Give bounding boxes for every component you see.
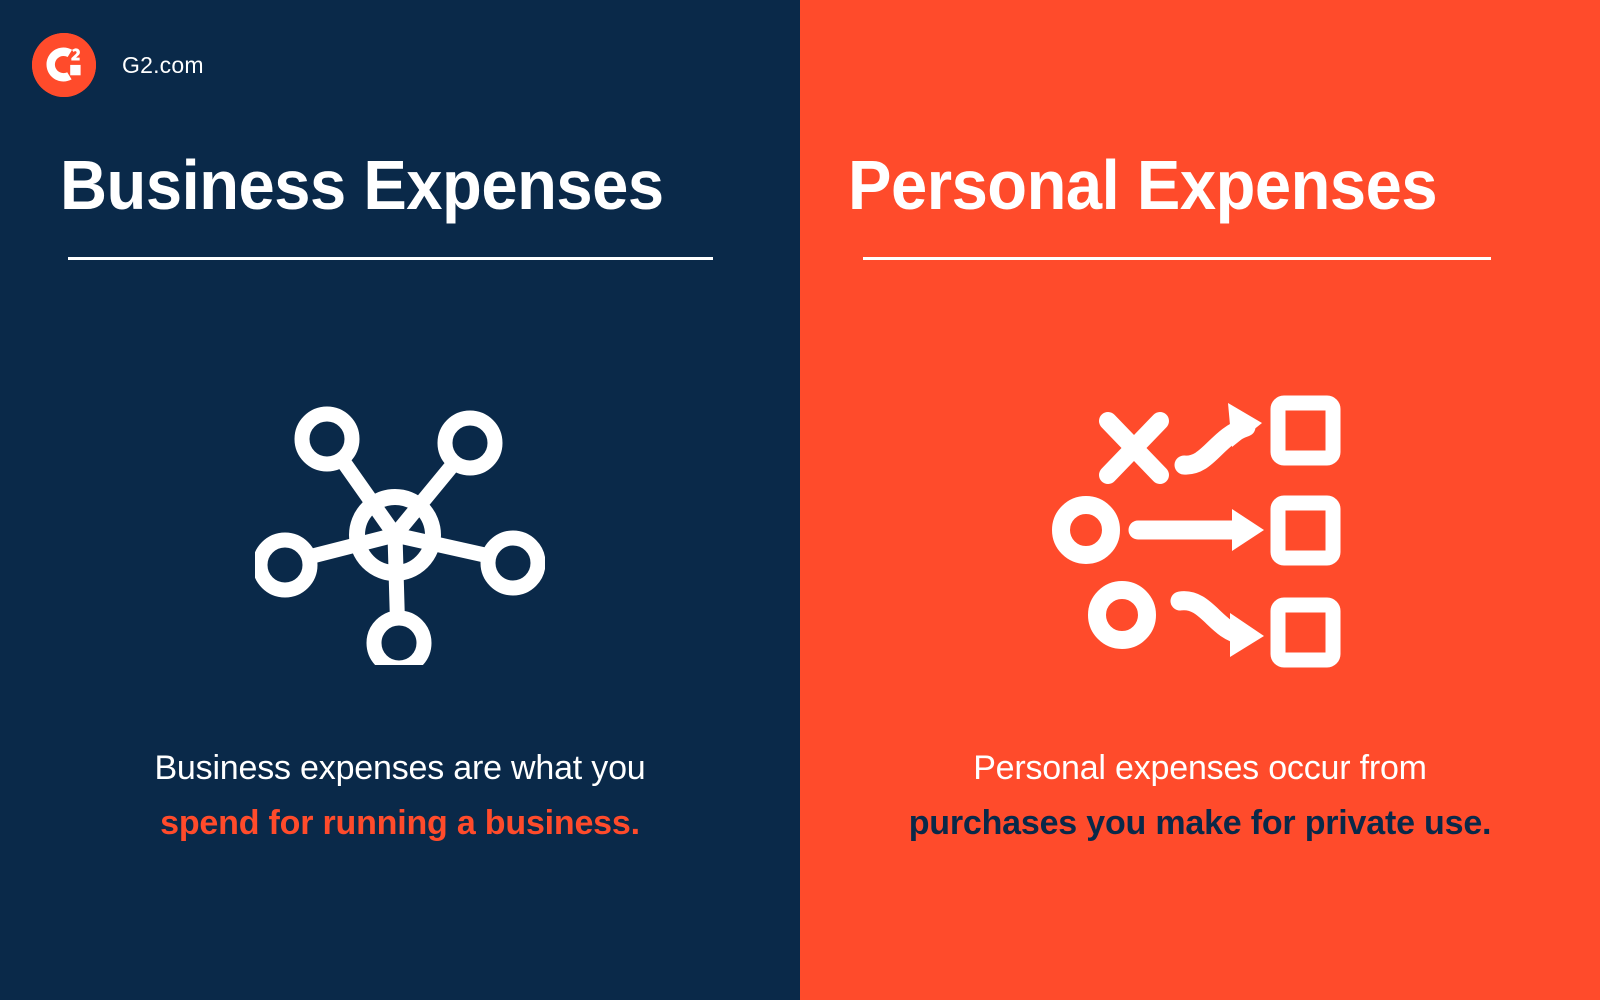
network-hub-icon	[0, 380, 800, 680]
title-underline-business	[68, 257, 713, 260]
caption-line-2: purchases you make for private use.	[800, 803, 1600, 844]
brand-name: G2.com	[122, 52, 204, 79]
title-underline-personal	[863, 257, 1491, 260]
panel-personal-expenses: Personal Expenses	[800, 0, 1600, 1000]
brand[interactable]: G2.com	[32, 33, 204, 97]
caption-line-2: spend for running a business.	[0, 803, 800, 844]
caption-line-1: Business expenses are what you	[0, 748, 800, 789]
caption-personal: Personal expenses occur from purchases y…	[800, 748, 1600, 845]
caption-business: Business expenses are what you spend for…	[0, 748, 800, 845]
infographic-canvas: G2.com Business Expenses	[0, 0, 1600, 1000]
page-title-business: Business Expenses	[60, 150, 664, 220]
panel-business-expenses: G2.com Business Expenses	[0, 0, 800, 1000]
strategy-flow-icon	[800, 380, 1600, 680]
g2-logo-icon	[32, 33, 96, 97]
caption-line-1: Personal expenses occur from	[800, 748, 1600, 789]
page-title-personal: Personal Expenses	[848, 150, 1437, 220]
